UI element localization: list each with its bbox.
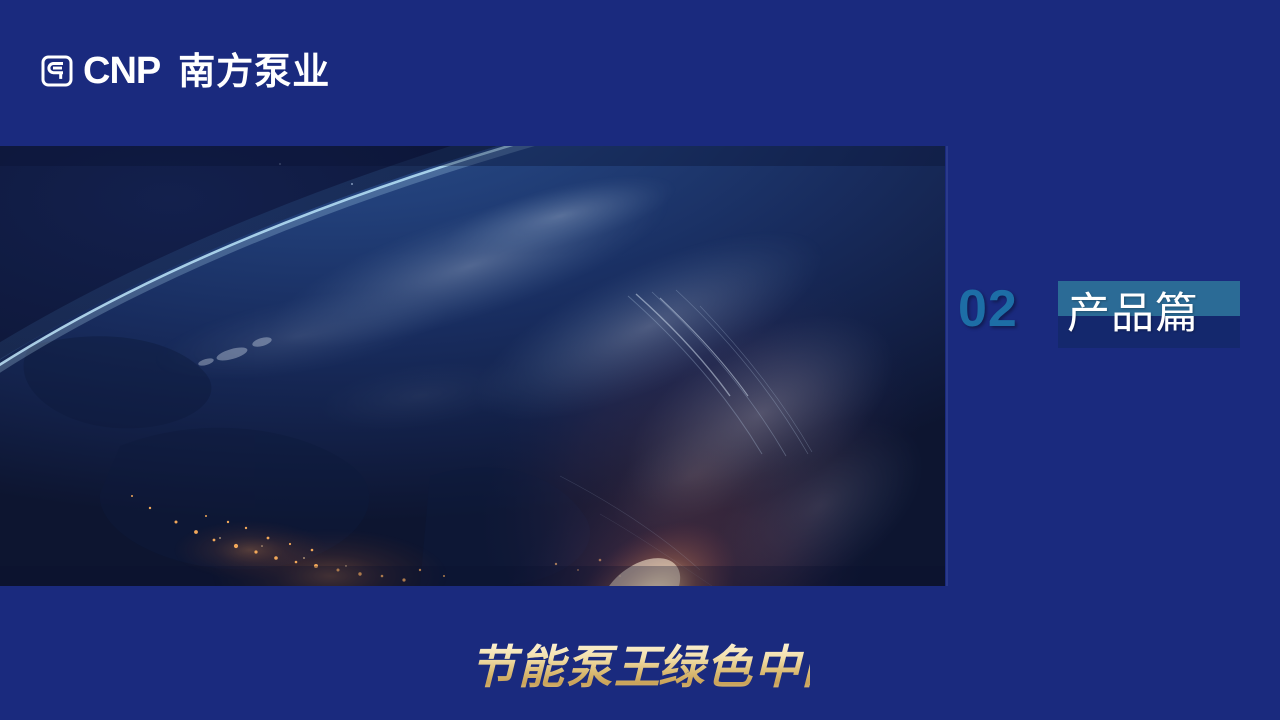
slogan-calligraphy: 节能泵王 绿色中国: [470, 636, 810, 700]
slogan-part-2: 绿色中国: [658, 640, 810, 694]
cnp-emblem-icon: [40, 54, 74, 88]
logo-chinese-text: 南方泵业: [178, 53, 330, 90]
company-logo: CNP 南方泵业: [40, 52, 330, 90]
earth-from-space-image: [0, 146, 945, 586]
footer-slogan: 节能泵王 绿色中国: [0, 636, 1280, 704]
slogan-part-1: 节能泵王: [470, 640, 666, 694]
panel-divider: [946, 146, 948, 586]
section-title: 产品篇: [1067, 282, 1247, 346]
logo-latin-text: CNP: [83, 52, 160, 90]
slide-header: CNP 南方泵业: [0, 0, 1280, 146]
earth-illustration: [0, 146, 945, 586]
section-number: 02: [958, 283, 1018, 335]
presentation-slide: CNP 南方泵业: [0, 0, 1280, 720]
